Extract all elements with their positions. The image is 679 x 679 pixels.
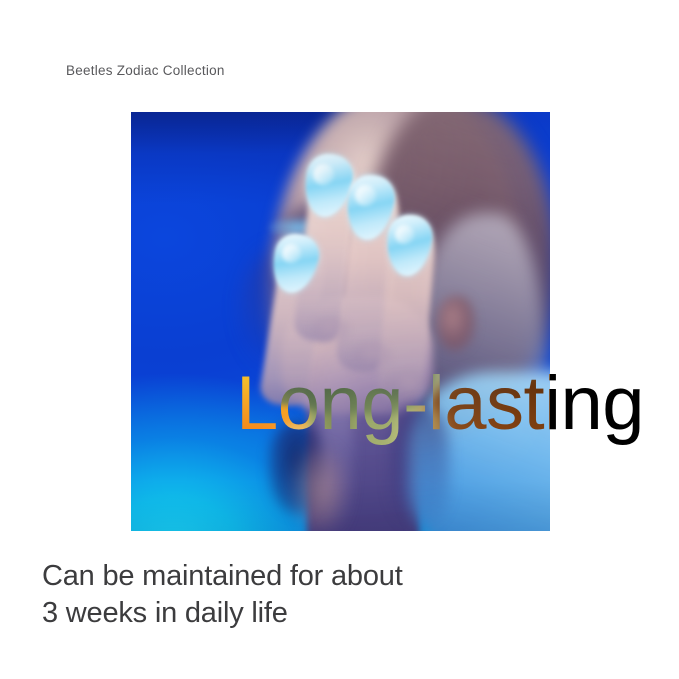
- caption-text: Can be maintained for about 3 weeks in d…: [42, 558, 403, 632]
- photo-vignette: [131, 112, 550, 531]
- brand-label: Beetles Zodiac Collection: [66, 63, 225, 78]
- poster-canvas: Beetles Zodiac Collection: [0, 0, 679, 679]
- product-photo: [131, 112, 550, 531]
